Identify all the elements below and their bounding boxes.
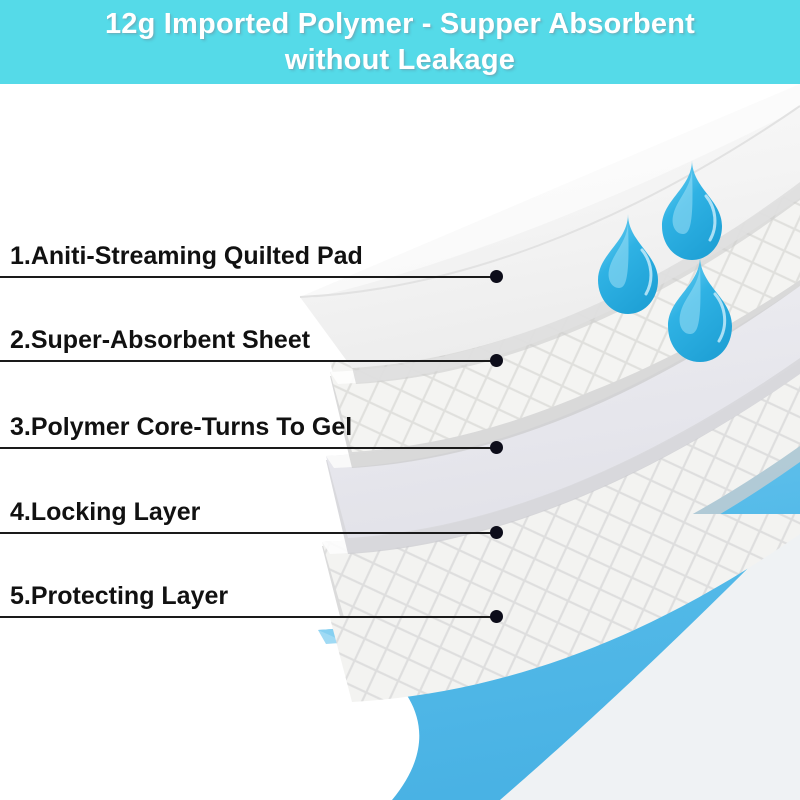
callout-label-1: 1.Aniti-Streaming Quilted Pad [10,242,363,270]
callout-layer-1[interactable]: 1.Aniti-Streaming Quilted Pad [0,200,520,278]
infographic-canvas: 12g Imported Polymer - Supper Absorbent … [0,0,800,800]
callout-layer-5[interactable]: 5.Protecting Layer [0,540,520,618]
callout-layer-4[interactable]: 4.Locking Layer [0,456,520,534]
leader-line-3 [0,447,497,449]
callout-label-3: 3.Polymer Core-Turns To Gel [10,413,352,441]
callout-layer-2[interactable]: 2.Super-Absorbent Sheet [0,284,520,362]
callout-label-4: 4.Locking Layer [10,498,200,526]
leader-line-1 [0,276,497,278]
leader-dot-3 [490,441,503,454]
callout-label-2: 2.Super-Absorbent Sheet [10,326,310,354]
leader-line-4 [0,532,497,534]
leader-dot-4 [490,526,503,539]
callout-label-5: 5.Protecting Layer [10,582,228,610]
callout-layer-3[interactable]: 3.Polymer Core-Turns To Gel [0,371,520,449]
leader-dot-2 [490,354,503,367]
leader-dot-1 [490,270,503,283]
leader-dot-5 [490,610,503,623]
leader-line-5 [0,616,497,618]
header-banner: 12g Imported Polymer - Supper Absorbent … [0,0,800,84]
leader-line-2 [0,360,497,362]
banner-title: 12g Imported Polymer - Supper Absorbent … [20,6,780,78]
